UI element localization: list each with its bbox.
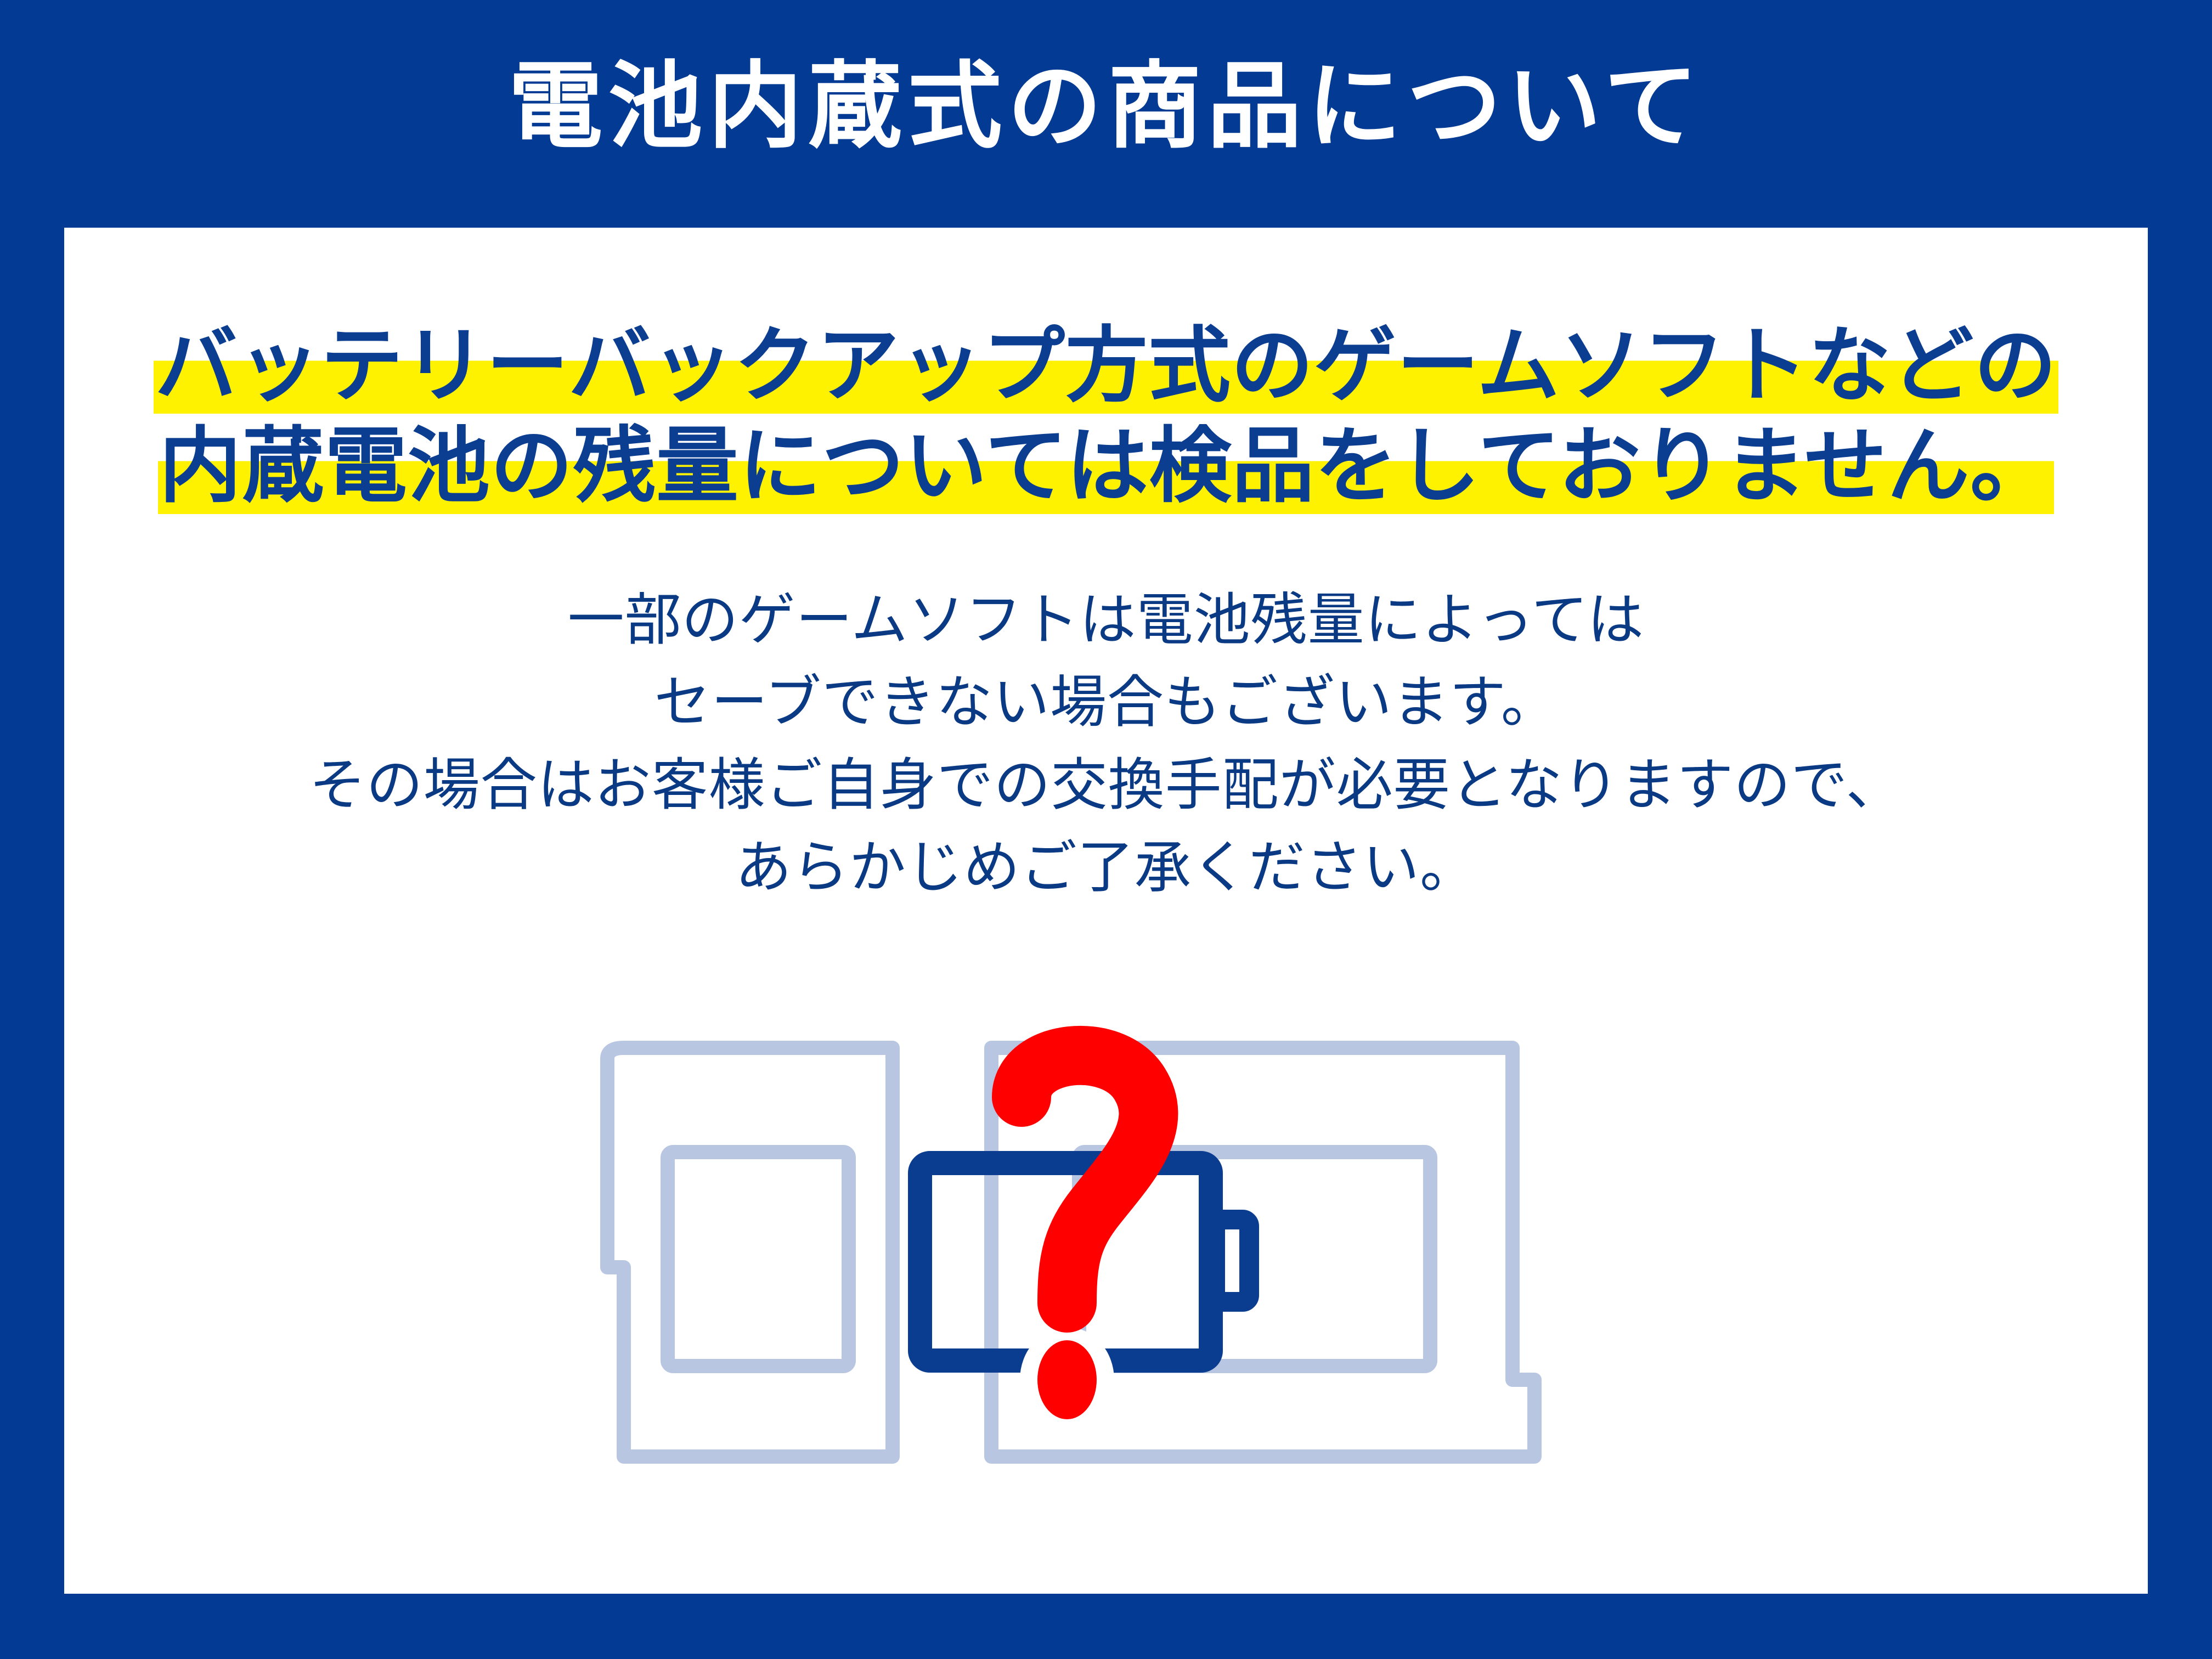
game-cartridge-left-icon	[607, 1048, 893, 1457]
content-card: バッテリーバックアップ方式のゲームソフトなどの 内蔵電池の残量については検品をし…	[64, 228, 2148, 1594]
battery-illustration	[585, 1018, 1792, 1511]
battery-terminal	[1215, 1220, 1249, 1302]
headline-line: バッテリーバックアップ方式のゲームソフトなどの	[64, 315, 2148, 416]
question-mark-hook	[1022, 1056, 1148, 1303]
headline-line: 内蔵電池の残量については検品をしておりません。	[64, 416, 2148, 516]
body-line-2: セーブできない場合もございます。	[64, 661, 2148, 743]
page-title-text: 電池内蔵式の商品について	[509, 59, 1704, 154]
body-line-1: 一部のゲームソフトは電池残量によっては	[64, 579, 2148, 661]
body-block: 一部のゲームソフトは電池残量によっては セーブできない場合もございます。 その場…	[64, 579, 2148, 909]
body-line-4: あらかじめご了承ください。	[64, 826, 2148, 909]
headline-line-2-text: 内蔵電池の残量については検品をしておりません。	[158, 420, 2054, 514]
poster-root: 電池内蔵式の商品について バッテリーバックアップ方式のゲームソフトなどの 内蔵電…	[0, 0, 2212, 1659]
headline-line-1-text: バッテリーバックアップ方式のゲームソフトなどの	[154, 319, 2058, 414]
body-line-3: その場合はお客様ご自身での交換手配が必要となりますので、	[64, 744, 2148, 826]
question-mark-dot	[1037, 1340, 1097, 1419]
page-title: 電池内蔵式の商品について	[0, 59, 2212, 154]
illustration-svg	[585, 1018, 1792, 1511]
headline-block: バッテリーバックアップ方式のゲームソフトなどの 内蔵電池の残量については検品をし…	[64, 315, 2148, 516]
